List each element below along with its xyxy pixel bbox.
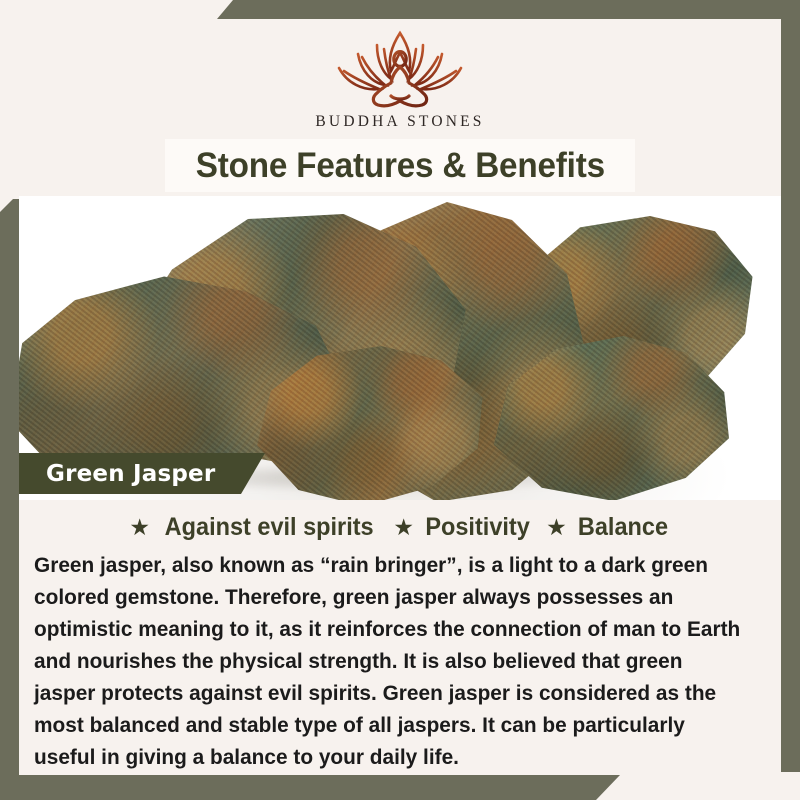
stone-photo: Green Jasper — [19, 196, 781, 500]
star-icon: ★ — [129, 516, 150, 539]
stone-name: Green Jasper — [46, 461, 215, 487]
inner-page: BUDDHA STONES Stone Features & Benefits … — [19, 19, 781, 775]
star-icon: ★ — [393, 516, 414, 539]
benefit-item: ★ Against evil spirits — [129, 513, 380, 542]
star-icon: ★ — [546, 516, 567, 539]
lotus-meditation-icon — [325, 27, 475, 111]
brand-logo: BUDDHA STONES — [300, 27, 500, 131]
stone-description: Green jasper, also known as “rain bringe… — [34, 549, 748, 773]
frame-bottom-band — [0, 775, 620, 800]
frame-top-band — [217, 0, 800, 19]
benefit-label: Balance — [578, 513, 668, 542]
benefit-label: Against evil spirits — [165, 513, 374, 542]
benefit-label: Positivity — [425, 513, 529, 542]
frame-right-band — [781, 0, 800, 772]
benefits-row: ★ Against evil spirits ★ Positivity ★ Ba… — [19, 509, 781, 545]
page-title: Stone Features & Benefits — [195, 146, 604, 186]
brand-wordmark: BUDDHA STONES — [300, 113, 500, 131]
benefit-item: ★ Positivity — [393, 513, 533, 542]
benefit-item: ★ Balance — [546, 513, 671, 542]
brand-header: BUDDHA STONES — [19, 19, 781, 147]
stone-name-banner: Green Jasper — [19, 453, 265, 494]
infographic-canvas: BUDDHA STONES Stone Features & Benefits … — [0, 0, 800, 800]
page-title-banner: Stone Features & Benefits — [165, 139, 635, 192]
frame-left-band — [0, 199, 19, 776]
